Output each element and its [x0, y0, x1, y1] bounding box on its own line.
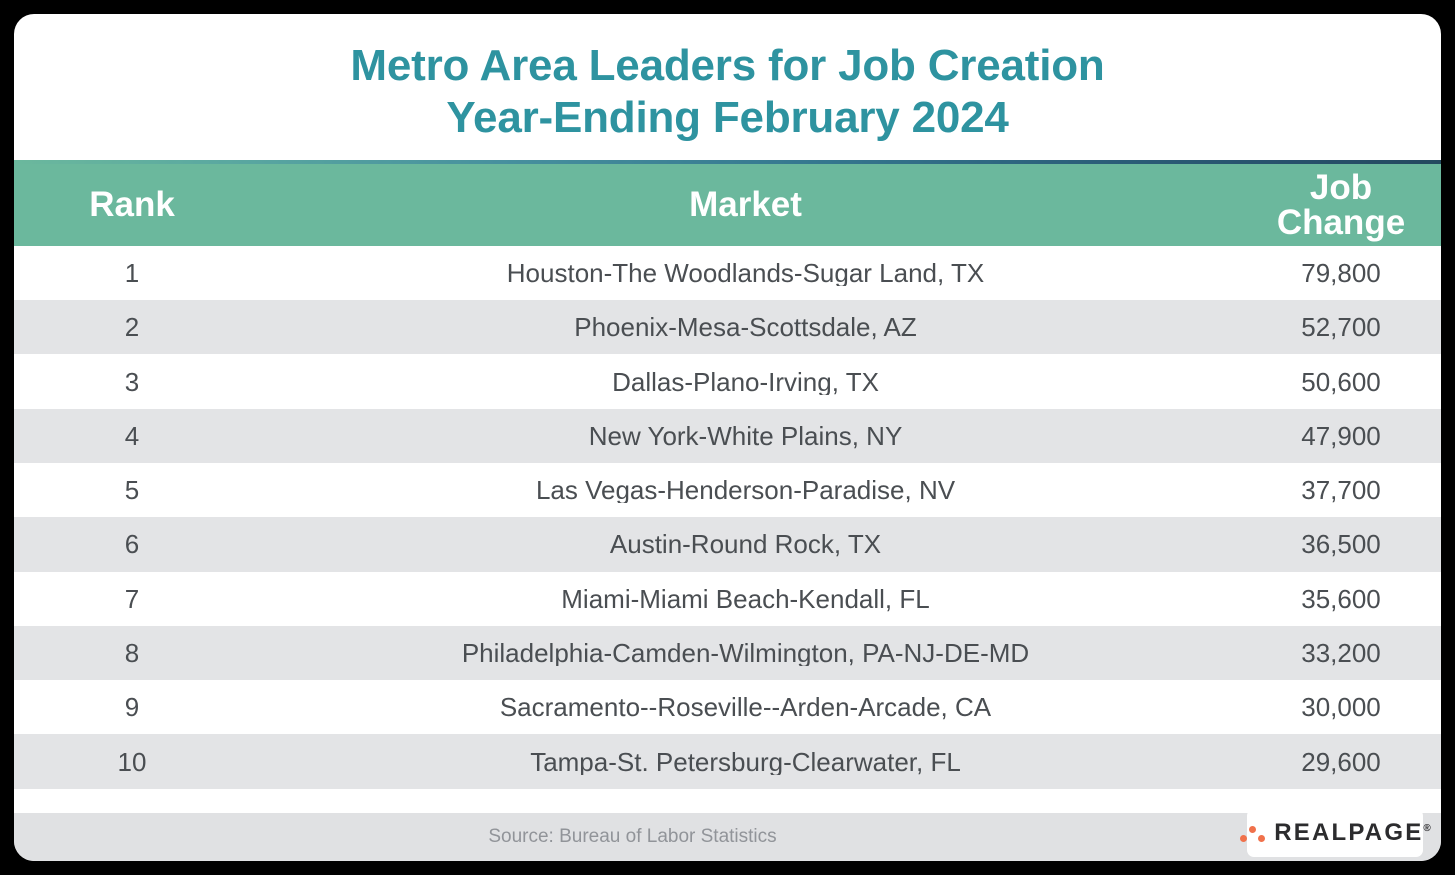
cell-market: Philadelphia-Camden-Wilmington, PA-NJ-DE…	[250, 640, 1241, 666]
table-row[interactable]: 2Phoenix-Mesa-Scottsdale, AZ52,700	[14, 300, 1441, 354]
table-row[interactable]: 6Austin-Round Rock, TX36,500	[14, 517, 1441, 571]
cell-change: 29,600	[1241, 749, 1441, 775]
cell-rank: 7	[14, 586, 250, 612]
cell-market: New York-White Plains, NY	[250, 423, 1241, 449]
cell-market: Houston-The Woodlands-Sugar Land, TX	[250, 260, 1241, 286]
table-row[interactable]: 3Dallas-Plano-Irving, TX50,600	[14, 354, 1441, 408]
table-row[interactable]: 8Philadelphia-Camden-Wilmington, PA-NJ-D…	[14, 626, 1441, 680]
cell-change: 79,800	[1241, 260, 1441, 286]
cell-rank: 3	[14, 369, 250, 395]
column-header-rank[interactable]: Rank	[14, 187, 250, 222]
cell-rank: 4	[14, 423, 250, 449]
cell-market: Las Vegas-Henderson-Paradise, NV	[250, 477, 1241, 503]
title-line-1: Metro Area Leaders for Job Creation	[14, 40, 1441, 92]
table-row[interactable]: 1Houston-The Woodlands-Sugar Land, TX79,…	[14, 246, 1441, 300]
cell-rank: 5	[14, 477, 250, 503]
trademark-symbol: ®	[1423, 823, 1430, 834]
cell-change: 37,700	[1241, 477, 1441, 503]
cell-change: 36,500	[1241, 531, 1441, 557]
table-row[interactable]: 5Las Vegas-Henderson-Paradise, NV37,700	[14, 463, 1441, 517]
cell-rank: 2	[14, 314, 250, 340]
realpage-wordmark-text: REALPAGE	[1274, 819, 1423, 846]
table-body: 1Houston-The Woodlands-Sugar Land, TX79,…	[14, 246, 1441, 789]
cell-change: 35,600	[1241, 586, 1441, 612]
table-header-row: Rank Market Job Change	[14, 164, 1441, 246]
cell-change: 47,900	[1241, 423, 1441, 449]
table-row[interactable]: 9Sacramento--Roseville--Arden-Arcade, CA…	[14, 680, 1441, 734]
realpage-dots-icon	[1239, 822, 1267, 844]
cell-market: Austin-Round Rock, TX	[250, 531, 1241, 557]
source-note: Source: Bureau of Labor Statistics	[488, 826, 776, 848]
cell-market: Phoenix-Mesa-Scottsdale, AZ	[250, 314, 1241, 340]
cell-market: Tampa-St. Petersburg-Clearwater, FL	[250, 749, 1241, 775]
cell-market: Miami-Miami Beach-Kendall, FL	[250, 586, 1241, 612]
cell-change: 50,600	[1241, 369, 1441, 395]
table-footer: Source: Bureau of Labor Statistics REALP…	[14, 813, 1441, 861]
cell-market: Dallas-Plano-Irving, TX	[250, 369, 1241, 395]
cell-rank: 10	[14, 749, 250, 775]
table-row[interactable]: 7Miami-Miami Beach-Kendall, FL35,600	[14, 572, 1441, 626]
cell-change: 52,700	[1241, 314, 1441, 340]
column-header-job-change[interactable]: Job Change	[1241, 170, 1441, 240]
table-row[interactable]: 10Tampa-St. Petersburg-Clearwater, FL29,…	[14, 734, 1441, 788]
cell-rank: 1	[14, 260, 250, 286]
column-header-market[interactable]: Market	[250, 187, 1241, 222]
cell-rank: 6	[14, 531, 250, 557]
realpage-wordmark: REALPAGE®	[1274, 821, 1431, 845]
cell-change: 33,200	[1241, 640, 1441, 666]
job-creation-table: Rank Market Job Change 1Houston-The Wood…	[14, 160, 1441, 813]
title-line-2: Year-Ending February 2024	[14, 92, 1441, 144]
cell-rank: 8	[14, 640, 250, 666]
cell-change: 30,000	[1241, 694, 1441, 720]
table-row[interactable]: 4New York-White Plains, NY47,900	[14, 409, 1441, 463]
realpage-logo[interactable]: REALPAGE®	[1247, 809, 1423, 857]
page-title: Metro Area Leaders for Job Creation Year…	[14, 14, 1441, 160]
report-card: Metro Area Leaders for Job Creation Year…	[14, 14, 1441, 861]
cell-market: Sacramento--Roseville--Arden-Arcade, CA	[250, 694, 1241, 720]
cell-rank: 9	[14, 694, 250, 720]
